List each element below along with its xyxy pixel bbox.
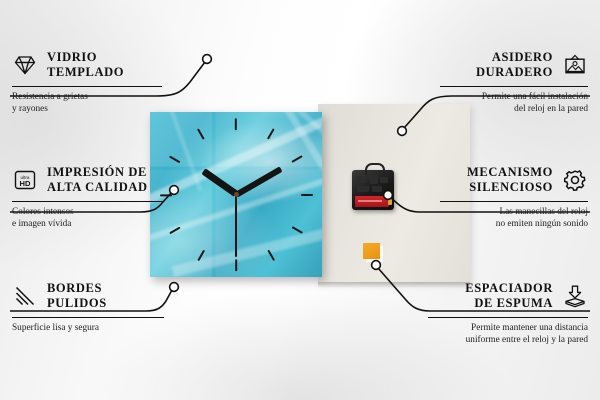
svg-text:HD: HD [20, 179, 31, 188]
ultra-hd-icon: ultra HD [12, 168, 38, 192]
clock-mechanism [352, 170, 394, 210]
battery-label-band [358, 200, 382, 202]
divider [12, 201, 164, 202]
divider [428, 317, 588, 318]
picture-hanger-icon [562, 53, 588, 77]
mechanism-slot [357, 176, 366, 183]
second-hand [235, 195, 237, 257]
divider [440, 201, 588, 202]
polished-edges-icon [12, 284, 38, 308]
clock-hub [234, 192, 239, 197]
feature-title: ASIDERO DURADERO [476, 50, 553, 81]
foam-spacer [363, 243, 380, 259]
feature-title: VIDRIO TEMPLADO [47, 50, 124, 81]
feature-description: Las manecillas del reloj no emiten ningú… [440, 206, 588, 231]
feature-description: Superficie lisa y segura [12, 322, 164, 334]
feature-title: MECANISMO SILENCIOSO [467, 165, 553, 196]
feature-espaciador-espuma: ESPACIADOR DE ESPUMA Permite mantener un… [428, 281, 588, 346]
battery [355, 196, 389, 207]
feature-description: Resistencia a grietas y rayones [12, 91, 162, 116]
divider [12, 317, 164, 318]
infographic-canvas: VIDRIO TEMPLADO Resistencia a grietas y … [0, 0, 600, 400]
hanger-loop [365, 163, 385, 175]
feature-description: Colores intensos e imagen vívida [12, 206, 164, 231]
feature-asidero-duradero: ASIDERO DURADERO Permite una fácil insta… [440, 50, 588, 115]
feature-title: IMPRESIÓN DE ALTA CALIDAD [47, 165, 148, 196]
hour-marker [235, 259, 237, 271]
feature-description: Permite una fácil instalación del reloj … [440, 91, 588, 116]
feature-mecanismo-silencioso: MECANISMO SILENCIOSO Las manecillas del … [440, 165, 588, 230]
feature-description: Permite mantener una distancia uniforme … [428, 322, 588, 347]
mechanism-slot [370, 175, 378, 184]
feature-title: ESPACIADOR DE ESPUMA [465, 281, 553, 312]
divider [12, 86, 162, 87]
diamond-icon [12, 53, 38, 77]
mechanism-slot [380, 177, 388, 183]
glass-wall-clock [150, 112, 322, 277]
feature-impresion-alta-calidad: ultra HD IMPRESIÓN DE ALTA CALIDAD Color… [12, 165, 164, 230]
gear-icon [562, 168, 588, 192]
foam-spacer-icon [562, 284, 588, 308]
mechanism-slot [372, 186, 382, 192]
divider [440, 86, 588, 87]
feature-title: BORDES PULIDOS [47, 281, 107, 312]
feature-bordes-pulidos: BORDES PULIDOS Superficie lisa y segura [12, 281, 164, 334]
feature-vidrio-templado: VIDRIO TEMPLADO Resistencia a grietas y … [12, 50, 162, 115]
mechanism-slot [357, 186, 369, 192]
